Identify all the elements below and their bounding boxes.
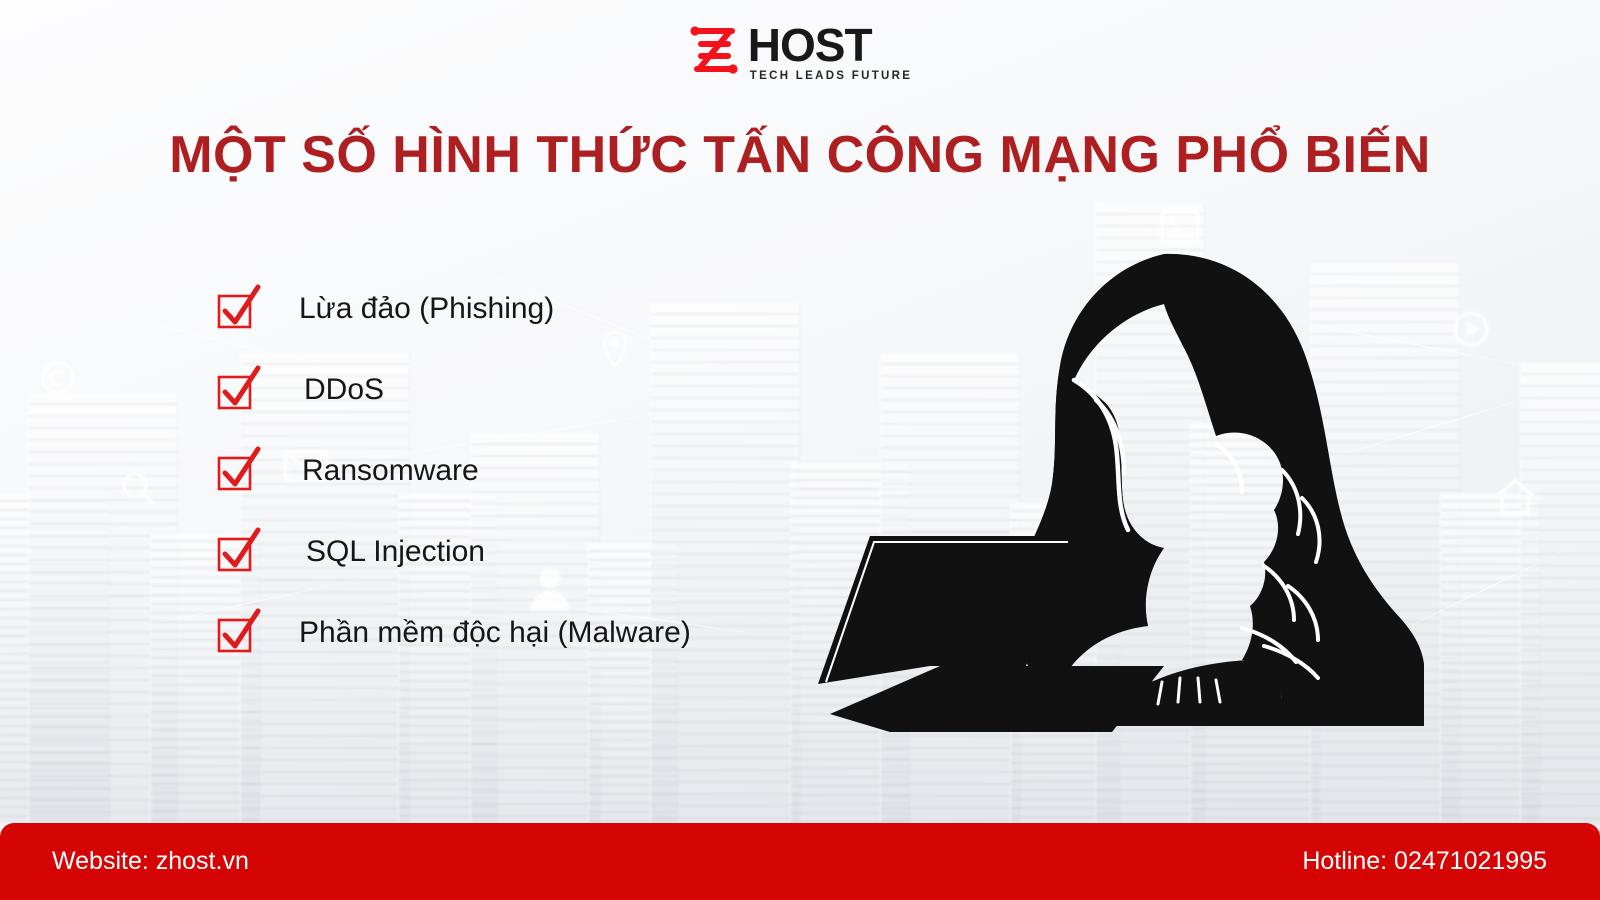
list-item-label: Phần mềm độc hại (Malware): [299, 616, 691, 650]
attack-types-list: Lừa đảo (Phishing) DDoS Ransomware: [218, 292, 691, 650]
footer-bar: Website: zhost.vn Hotline: 02471021995: [0, 823, 1600, 900]
brand-wordmark: HOST: [748, 24, 872, 68]
infographic-poster: HOST TECH LEADS FUTURE MỘT SỐ HÌNH THỨC …: [0, 0, 1600, 900]
list-item: DDoS: [218, 373, 691, 407]
list-item: SQL Injection: [218, 535, 691, 569]
list-item: Lừa đảo (Phishing): [218, 292, 691, 326]
checkbox-checked-icon: [218, 373, 252, 407]
footer-hotline[interactable]: Hotline: 02471021995: [1302, 847, 1547, 876]
list-item-label: Ransomware: [302, 454, 479, 488]
checkbox-checked-icon: [218, 454, 252, 488]
list-item: Phần mềm độc hại (Malware): [218, 616, 691, 650]
play-icon: [1452, 310, 1490, 348]
list-item: Ransomware: [218, 454, 691, 488]
image-icon: [1160, 210, 1200, 244]
brand-tagline: TECH LEADS FUTURE: [750, 70, 912, 82]
checkbox-checked-icon: [218, 292, 252, 326]
z-circuit-logo-icon: [688, 22, 740, 84]
page-title: MỘT SỐ HÌNH THỨC TẤN CÔNG MẠNG PHỔ BIẾN: [0, 125, 1600, 185]
list-item-label: SQL Injection: [306, 535, 485, 569]
checkbox-checked-icon: [218, 535, 252, 569]
home-icon: [1494, 478, 1536, 516]
footer-website[interactable]: Website: zhost.vn: [52, 847, 249, 876]
search-icon: [120, 470, 156, 506]
list-item-label: Lừa đảo (Phishing): [299, 292, 554, 326]
copyright-icon: [40, 360, 76, 396]
hooded-hacker-with-laptop-silhouette: [812, 248, 1432, 748]
list-item-label: DDoS: [304, 373, 384, 407]
checkbox-checked-icon: [218, 616, 252, 650]
brand-logo: HOST TECH LEADS FUTURE: [0, 22, 1600, 84]
